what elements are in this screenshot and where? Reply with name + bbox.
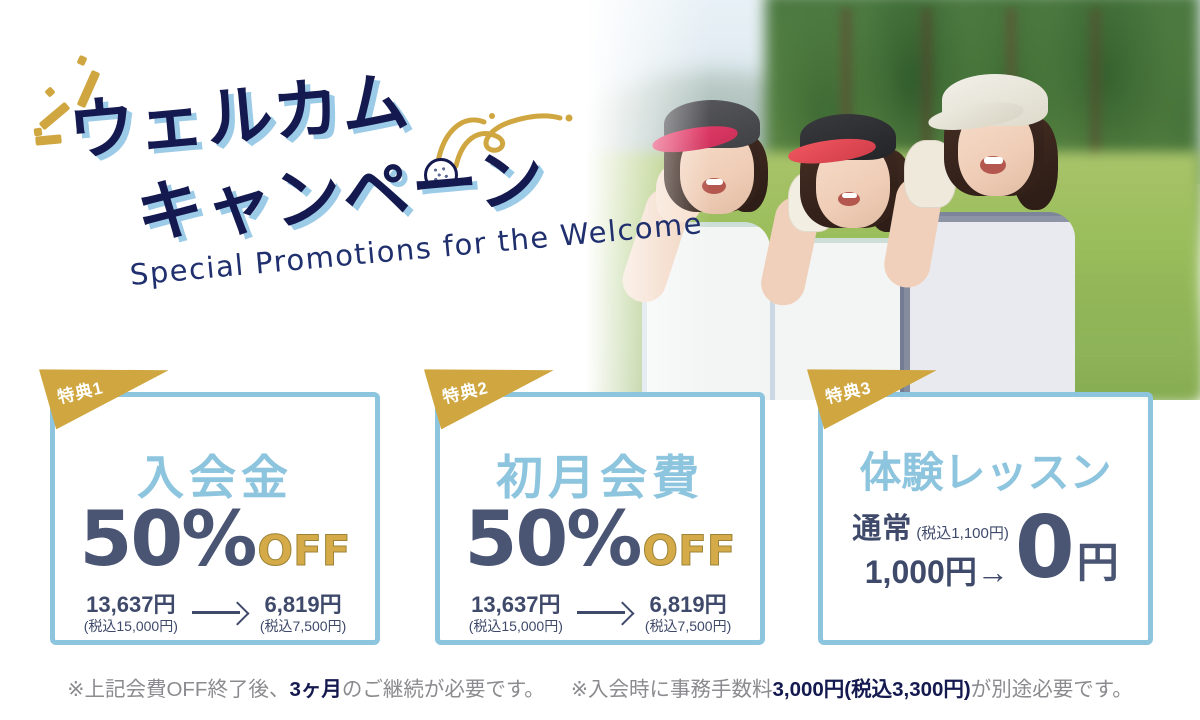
benefit-card-3: 特典3 体験レッスン 通常 (税込1,100円) 1,000円→ 0 円 — [818, 392, 1153, 645]
trial-normal-tax: (税込1,100円) — [916, 522, 1009, 543]
discount-row-1: 50% OFF — [55, 501, 375, 577]
trial-normal-price: 1,000円→ — [852, 547, 1009, 593]
ribbon-1: 特典1 — [39, 349, 175, 430]
price-after-1: 6,819円 (税込7,500円) — [260, 593, 346, 634]
trial-zero-number: 0 — [1015, 508, 1075, 590]
footnote-2-pre: ※入会時に事務手数料 — [571, 678, 773, 701]
price-before-2: 13,637円 (税込15,000円) — [469, 593, 563, 634]
price-row-2: 13,637円 (税込15,000円) 6,819円 (税込7,500円) — [440, 593, 760, 634]
price-before-sub-1: (税込15,000円) — [84, 618, 178, 635]
discount-percent-1: 50% — [79, 501, 255, 577]
trial-normal-label: 通常 — [852, 505, 912, 547]
card-title-3: 体験レッスン — [823, 439, 1148, 500]
discount-percent-2: 50% — [464, 501, 640, 577]
price-after-sub-1: (税込7,500円) — [260, 618, 346, 635]
arrow-icon-2 — [577, 601, 631, 623]
price-before-main-1: 13,637円 — [84, 593, 178, 618]
ribbon-2: 特典2 — [424, 349, 560, 430]
footnote-1-post: のご継続が必要です。 — [342, 678, 545, 701]
footnote-1-pre: ※上記会費OFF終了後、 — [67, 678, 289, 701]
footnotes: ※上記会費OFF終了後、3ヶ月のご継続が必要です。 ※入会時に事務手数料3,00… — [0, 672, 1200, 702]
footnote-2: ※入会時に事務手数料3,000円(税込3,300円)が別途必要です。 — [571, 672, 1133, 702]
price-after-main-1: 6,819円 — [260, 593, 346, 618]
footnote-1-strong: 3ヶ月 — [289, 678, 341, 701]
footnote-2-post: が別途必要です。 — [971, 678, 1133, 701]
price-after-sub-2: (税込7,500円) — [645, 618, 731, 635]
benefit-card-2: 特典2 初月会費 50% OFF 13,637円 (税込15,000円) 6,8… — [435, 392, 765, 645]
trial-zero-unit: 円 — [1077, 542, 1119, 584]
price-after-main-2: 6,819円 — [645, 593, 731, 618]
discount-off-1: OFF — [257, 530, 350, 572]
discount-off-2: OFF — [642, 530, 735, 572]
discount-row-2: 50% OFF — [440, 501, 760, 577]
trial-zero-price: 0 円 — [1015, 508, 1119, 590]
price-before-main-2: 13,637円 — [469, 593, 563, 618]
arrow-icon-1 — [192, 601, 246, 623]
footnote-2-strong: 3,000円(税込3,300円) — [773, 678, 971, 701]
benefit-cards: 特典1 入会金 50% OFF 13,637円 (税込15,000円) 6,81… — [0, 0, 1200, 720]
trial-price-row: 通常 (税込1,100円) 1,000円→ 0 円 — [823, 505, 1148, 593]
benefit-card-1: 特典1 入会金 50% OFF 13,637円 (税込15,000円) 6,81… — [50, 392, 380, 645]
trial-normal-block: 通常 (税込1,100円) 1,000円→ — [852, 505, 1009, 593]
price-after-2: 6,819円 (税込7,500円) — [645, 593, 731, 634]
price-row-1: 13,637円 (税込15,000円) 6,819円 (税込7,500円) — [55, 593, 375, 634]
ribbon-3: 特典3 — [807, 349, 943, 430]
footnote-1: ※上記会費OFF終了後、3ヶ月のご継続が必要です。 — [67, 672, 545, 702]
price-before-1: 13,637円 (税込15,000円) — [84, 593, 178, 634]
trial-normal-top: 通常 (税込1,100円) — [852, 505, 1009, 547]
campaign-banner: ウェルカム キャンペーン Special Promotions for the … — [0, 0, 1200, 720]
price-before-sub-2: (税込15,000円) — [469, 618, 563, 635]
